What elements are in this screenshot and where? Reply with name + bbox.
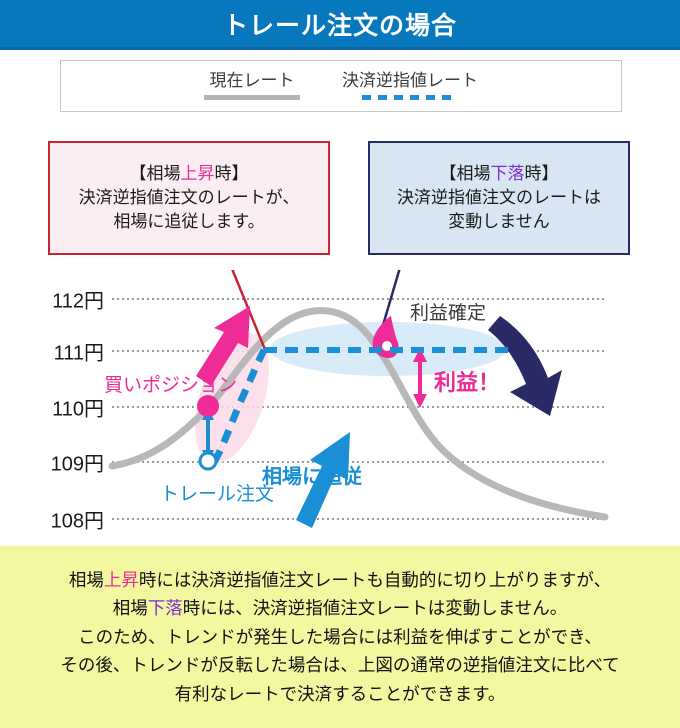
summary-line-2-a: 相場	[113, 598, 148, 618]
summary-line-2: 相場下落時には、決済逆指値注文レートは変動しません。	[113, 595, 567, 622]
summary-line-2-highlight: 下落	[148, 598, 183, 618]
callout-left-line3: 相場に追従します。	[113, 210, 264, 234]
legend-label-stop-rate: 決済逆指値レート	[342, 72, 478, 91]
summary-line-5: 有利なレートで決済することができます。	[175, 681, 506, 708]
header-divider	[0, 47, 680, 50]
summary-line-4: その後、トレンドが反転した場合は、上図の通常の逆指値注文に比べて	[60, 652, 619, 679]
series-stop-rate-flat	[264, 347, 510, 353]
callout-left-title-highlight: 上昇	[181, 164, 215, 183]
legend-item-stop-rate: 決済逆指値レート	[342, 72, 478, 101]
callout-right-title-highlight: 下落	[491, 164, 525, 183]
callout-left-line2: 決済逆指値注文のレートが、	[79, 186, 300, 210]
summary-panel: 相場上昇時には決済逆指値注文レートも自動的に切り上がりますが、 相場下落時には、…	[0, 546, 680, 728]
legend-label-current-rate: 現在レート	[210, 72, 295, 91]
label-trail-order: トレール注文	[160, 479, 274, 506]
page-header: トレール注文の場合	[0, 0, 680, 47]
callout-left-title-pre: 【相場	[130, 164, 181, 183]
callout-right-line3: 変動しません	[448, 210, 550, 234]
callout-market-rising: 【相場上昇時】 決済逆指値注文のレートが、 相場に追従します。	[48, 141, 330, 255]
label-buy-position: 買いポジション	[104, 370, 237, 397]
marker-trail-order	[199, 452, 218, 471]
legend-swatch-solid-line	[204, 95, 300, 100]
callout-left-title-post: 時】	[215, 164, 249, 183]
legend-item-current-rate: 現在レート	[204, 72, 300, 101]
label-profit: 利益！	[434, 365, 500, 397]
label-follow-market: 相場に追従	[262, 460, 362, 489]
callout-right-title: 【相場下落時】	[440, 162, 559, 186]
label-profit-fix: 利益確定	[410, 298, 486, 325]
rate-chart: 112円 111円 110円 109円 108円	[0, 270, 680, 540]
summary-line-1-b: 時には決済逆指値注文レートも自動的に切り上がりますが、	[139, 570, 611, 590]
chart-legend: 現在レート 決済逆指値レート	[60, 60, 622, 112]
summary-line-1-a: 相場	[69, 570, 104, 590]
callout-right-title-pre: 【相場	[440, 164, 491, 183]
page-title: トレール注文の場合	[223, 6, 457, 42]
legend-swatch-dashed-line	[362, 95, 458, 100]
callout-right-title-post: 時】	[525, 164, 559, 183]
callout-left-title: 【相場上昇時】	[130, 162, 249, 186]
marker-buy-position	[197, 395, 219, 417]
summary-line-1: 相場上昇時には決済逆指値注文レートも自動的に切り上がりますが、	[69, 567, 611, 594]
summary-line-3: このため、トレンドが発生した場合には利益を伸ばすことができ、	[78, 624, 602, 651]
callout-right-line2: 決済逆指値注文のレートは	[397, 186, 601, 210]
summary-line-2-b: 時には、決済逆指値注文レートは変動しません。	[183, 598, 567, 618]
chart-svg-layer	[0, 270, 680, 540]
summary-line-1-highlight: 上昇	[104, 570, 139, 590]
callout-market-falling: 【相場下落時】 決済逆指値注文のレートは 変動しません	[368, 141, 630, 255]
